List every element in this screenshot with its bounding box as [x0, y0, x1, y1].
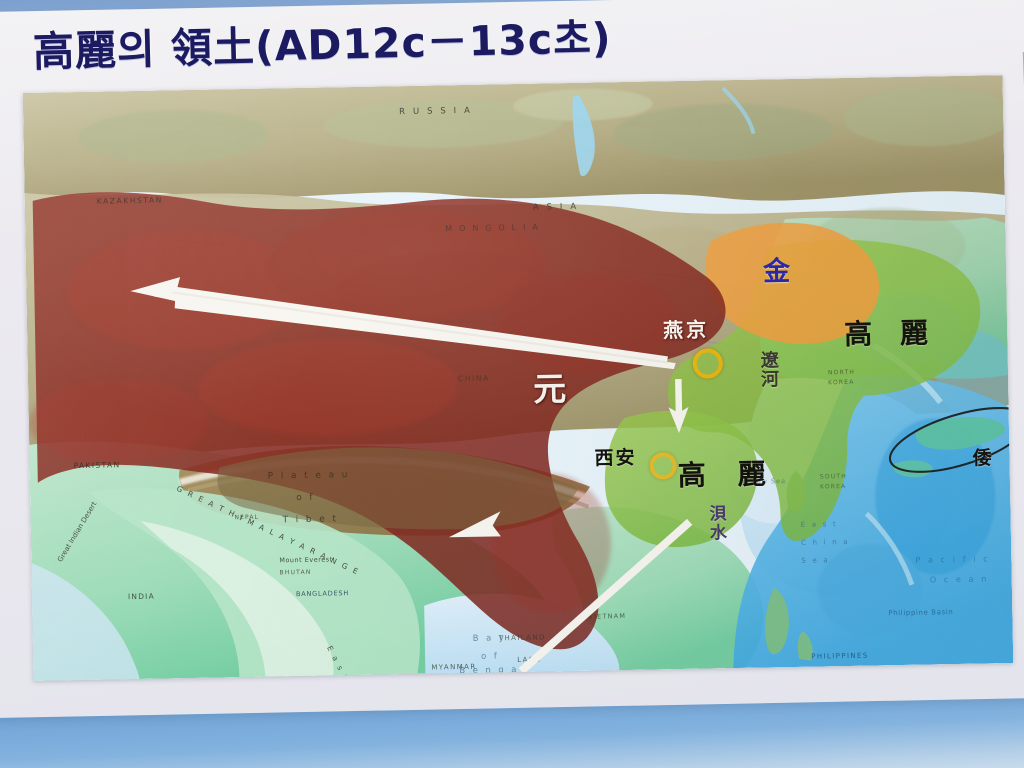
- paesu-char-1: 浿: [709, 505, 726, 524]
- screenshot-root: 高麗의 領土(AD12c－13c초): [0, 0, 1024, 768]
- map-label-yeongyeong: 燕京: [663, 319, 709, 340]
- map-label-liaohe: 遼 河: [761, 351, 780, 390]
- map-label-wa: 倭: [972, 449, 991, 468]
- map-label-paesu: 浿 水: [709, 505, 727, 543]
- map-label-xian: 西安: [594, 449, 636, 469]
- map-graphic: R U S S I A A S I A M O N G O L I A KAZA…: [23, 75, 1014, 681]
- liaohe-char-2: 河: [761, 371, 779, 391]
- liaohe-char-1: 遼: [761, 351, 779, 371]
- map-label-jin: 金: [763, 258, 790, 285]
- map-label-yuan: 元: [533, 372, 567, 406]
- map-canvas: R U S S I A A S I A M O N G O L I A KAZA…: [23, 75, 1014, 681]
- map-label-goryeo-south: 高 麗: [678, 460, 777, 490]
- paesu-char-2: 水: [710, 524, 727, 543]
- map-label-goryeo-north: 高 麗: [844, 319, 937, 349]
- map-image: R U S S I A A S I A M O N G O L I A KAZA…: [23, 75, 1014, 681]
